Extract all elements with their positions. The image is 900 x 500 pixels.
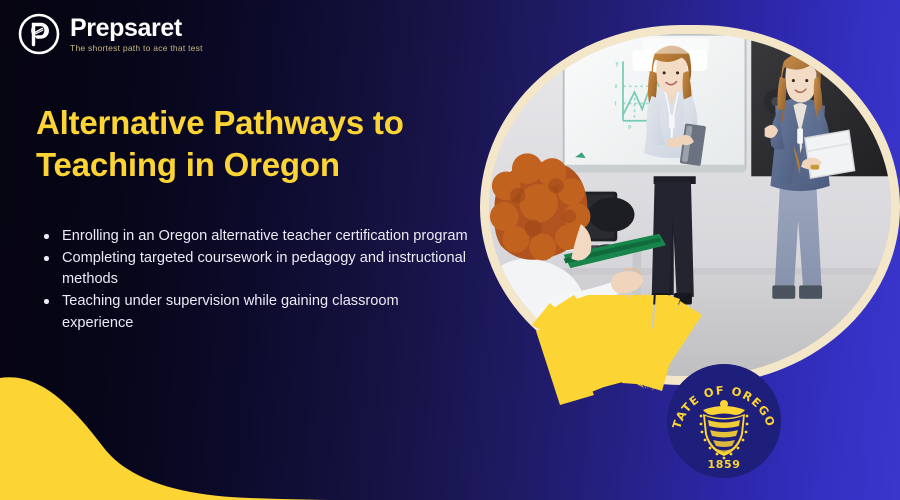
oregon-state-seal: STATE OF OREGON (667, 364, 781, 478)
corner-wave-shape-icon (0, 370, 340, 500)
svg-text:a: a (628, 124, 632, 130)
svg-text:x: x (614, 84, 618, 90)
list-item: Enrolling in an Oregon alternative teach… (36, 226, 471, 247)
list-item: Teaching under supervision while gaining… (36, 291, 471, 333)
brand-logo[interactable]: Prepsaret The shortest path to ace that … (18, 13, 203, 55)
prepsaret-circle-p-logo-icon (18, 13, 60, 55)
brand-name: Prepsaret (70, 15, 203, 41)
page-title: Alternative Pathways to Teaching in Oreg… (36, 102, 456, 186)
promo-slide: Prepsaret The shortest path to ace that … (0, 0, 900, 500)
svg-text:y: y (615, 61, 619, 67)
oregon-state-seal-icon: STATE OF OREGON (667, 364, 781, 478)
brand-tagline: The shortest path to ace that test (70, 43, 203, 53)
list-item: Completing targeted coursework in pedago… (36, 248, 471, 290)
seal-year: 1859 (707, 458, 740, 471)
bullet-list: Enrolling in an Oregon alternative teach… (36, 226, 471, 335)
